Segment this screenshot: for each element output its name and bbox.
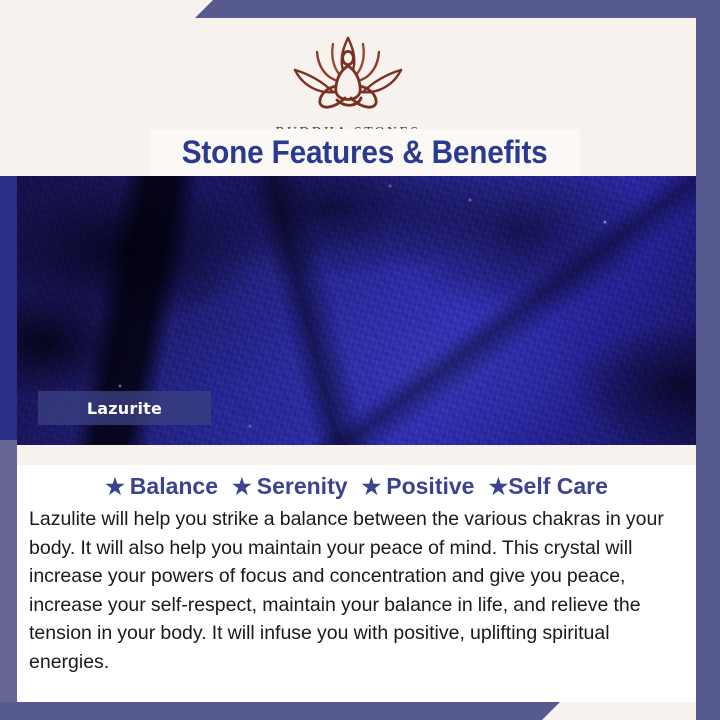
benefit-label: Serenity	[257, 473, 348, 500]
benefit-item-serenity: ★ Serenity	[232, 473, 348, 500]
benefit-label: Self Care	[508, 473, 608, 500]
right-edge-strip	[696, 0, 720, 720]
benefit-label: Positive	[386, 473, 474, 500]
benefit-item-self-care: ★ Self Care	[488, 473, 607, 500]
page-title: Stone Features & Benefits	[182, 134, 548, 171]
header: BUDDHA STONES Stone Features & Benefits	[0, 18, 696, 176]
description-section: ★ Balance ★ Serenity ★ Positive ★ Self C…	[17, 445, 696, 702]
star-icon: ★	[105, 476, 125, 498]
stone-name-badge: Lazurite	[38, 391, 211, 425]
lazurite-stone-photo: Lazurite	[0, 176, 720, 445]
stone-name-label: Lazurite	[87, 399, 162, 418]
infographic-card: BUDDHA STONES Stone Features & Benefits …	[0, 0, 720, 720]
cream-divider	[17, 445, 696, 465]
benefit-item-positive: ★ Positive	[362, 473, 475, 500]
star-icon: ★	[488, 476, 508, 498]
benefit-keywords: ★ Balance ★ Serenity ★ Positive ★ Self C…	[17, 473, 696, 500]
benefit-label: Balance	[130, 473, 218, 500]
brand-logo: BUDDHA STONES	[0, 30, 696, 140]
bottom-accent-banner	[0, 702, 560, 720]
lotus-meditation-icon	[273, 30, 423, 122]
title-plate: Stone Features & Benefits	[150, 129, 580, 176]
left-edge-strip-lower	[0, 440, 17, 720]
left-edge-strip-upper	[0, 176, 17, 440]
star-icon: ★	[362, 476, 382, 498]
description-text: Lazulite will help you strike a balance …	[29, 505, 689, 676]
star-icon: ★	[232, 476, 252, 498]
benefit-item-balance: ★ Balance	[105, 473, 218, 500]
top-accent-banner	[195, 0, 720, 18]
